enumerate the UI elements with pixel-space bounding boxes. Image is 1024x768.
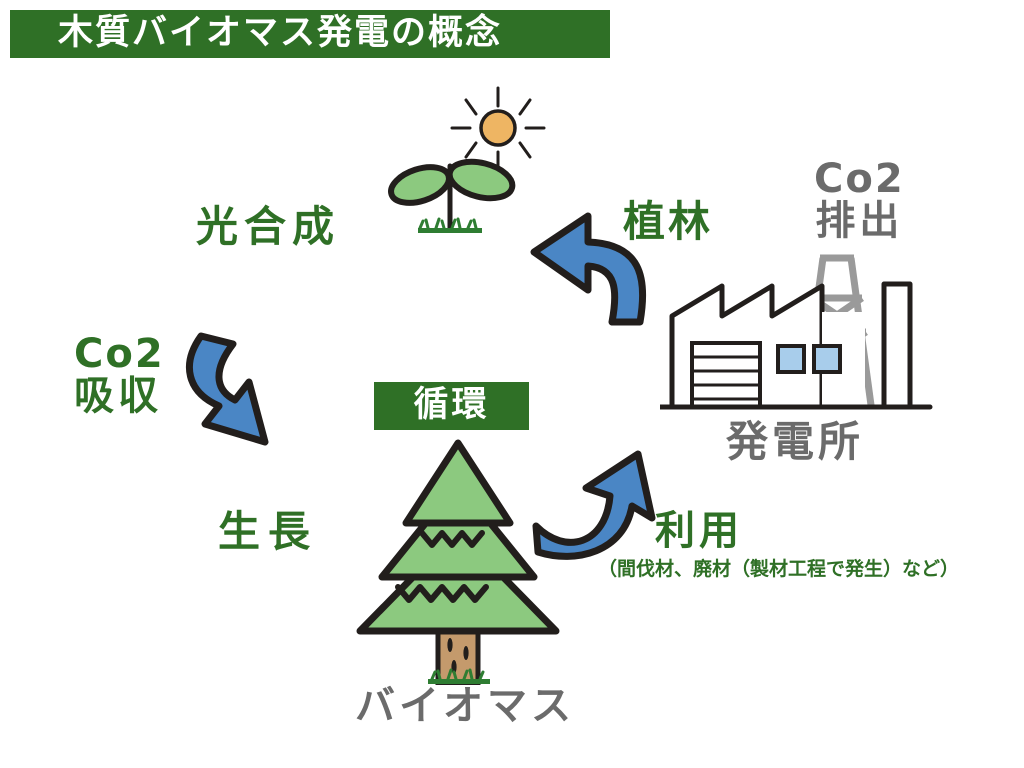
factory-window — [814, 346, 840, 372]
label-co2-emission-line1: Co2 — [814, 158, 905, 200]
factory-icon — [660, 240, 970, 444]
shutter-door — [692, 343, 760, 407]
label-utilization-sub: （間伐材、廃材（製材工程で発生）など） — [598, 560, 959, 580]
label-utilization: 利用 — [655, 510, 743, 552]
label-co2-absorption-line2: 吸収 — [74, 375, 165, 417]
label-co2-absorption-line1: Co2 — [74, 333, 165, 375]
label-co2-emission-line2: 排出 — [814, 200, 905, 242]
label-power-plant: 発電所 — [726, 420, 864, 464]
label-growth: 生長 — [218, 510, 318, 554]
factory-window — [778, 346, 804, 372]
label-co2-emission: Co2 排出 — [814, 158, 905, 242]
page-title: 木質バイオマス発電の概念 — [58, 16, 502, 51]
arrow-co2-absorption-icon — [175, 330, 275, 454]
center-chip-label: 循環 — [413, 388, 489, 423]
label-afforestation: 植林 — [623, 200, 713, 244]
label-co2-absorption: Co2 吸収 — [74, 333, 165, 417]
label-photosynthesis: 光合成 — [196, 205, 340, 249]
diagram-canvas: 木質バイオマス発電の概念 — [0, 0, 1024, 768]
arrow-utilization-icon — [528, 448, 668, 572]
title-banner: 木質バイオマス発電の概念 — [10, 10, 610, 58]
center-chip-circulation: 循環 — [374, 382, 529, 430]
label-biomass: バイオマス — [355, 685, 575, 727]
